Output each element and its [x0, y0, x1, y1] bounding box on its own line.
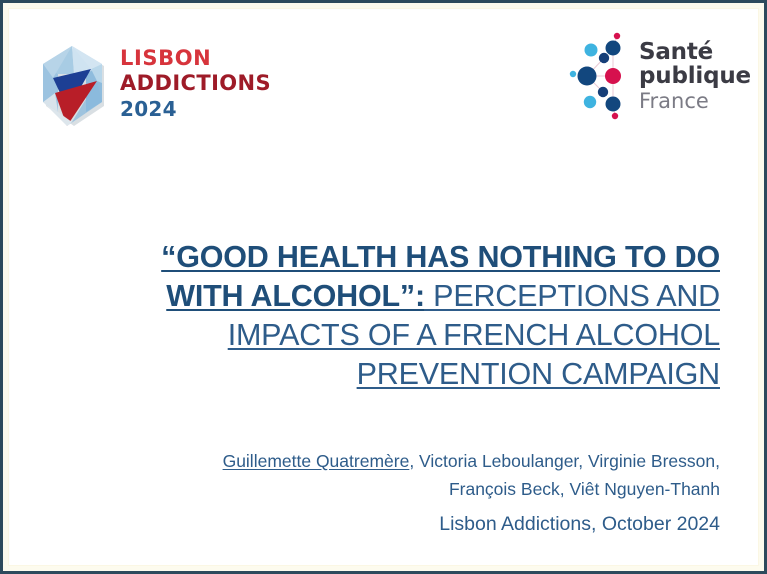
sante-publique-france-logo: Santé publique France — [565, 30, 751, 122]
presentation-title-slide: LISBON ADDICTIONS 2024 — [0, 0, 767, 574]
lisbon-addictions-logo: LISBON ADDICTIONS 2024 — [34, 36, 271, 132]
spf-line-france: France — [639, 90, 751, 112]
title-line-4: PREVENTION CAMPAIGN — [60, 355, 720, 394]
conference-line: Lisbon Addictions, October 2024 — [60, 511, 720, 537]
slide-header: LISBON ADDICTIONS 2024 — [0, 0, 767, 160]
la-line-addictions: ADDICTIONS — [120, 71, 271, 96]
lisbon-addictions-wordmark: LISBON ADDICTIONS 2024 — [120, 46, 271, 121]
title-quoted-part-1: “GOOD HEALTH HAS NOTHING TO DO — [161, 240, 720, 274]
spf-line-publique: publique — [639, 64, 751, 88]
title-rest-line-2: PERCEPTIONS AND — [425, 279, 720, 313]
polyhedron-icon — [34, 36, 112, 132]
title-line-1: “GOOD HEALTH HAS NOTHING TO DO — [60, 238, 720, 277]
la-line-lisbon: LISBON — [120, 46, 271, 71]
spf-line-sante: Santé — [639, 40, 751, 64]
title-quoted-part-2: WITH ALCOHOL”: — [166, 279, 425, 313]
slide-title: “GOOD HEALTH HAS NOTHING TO DO WITH ALCO… — [60, 238, 720, 394]
author-line-1: Guillemette Quatremère, Victoria Leboula… — [60, 447, 720, 475]
title-line-3: IMPACTS OF A FRENCH ALCOHOL — [60, 316, 720, 355]
lead-author: Guillemette Quatremère — [223, 451, 410, 471]
spf-wordmark: Santé publique France — [639, 40, 751, 111]
author-line-2: François Beck, Viêt Nguyen-Thanh — [60, 475, 720, 503]
title-line-2: WITH ALCOHOL”: PERCEPTIONS AND — [60, 277, 720, 316]
la-line-year: 2024 — [120, 98, 271, 122]
coauthors-line-1: , Victoria Leboulanger, Virginie Bresson… — [409, 451, 720, 471]
author-list: Guillemette Quatremère, Victoria Leboula… — [60, 447, 720, 503]
network-dots-icon — [565, 30, 635, 122]
